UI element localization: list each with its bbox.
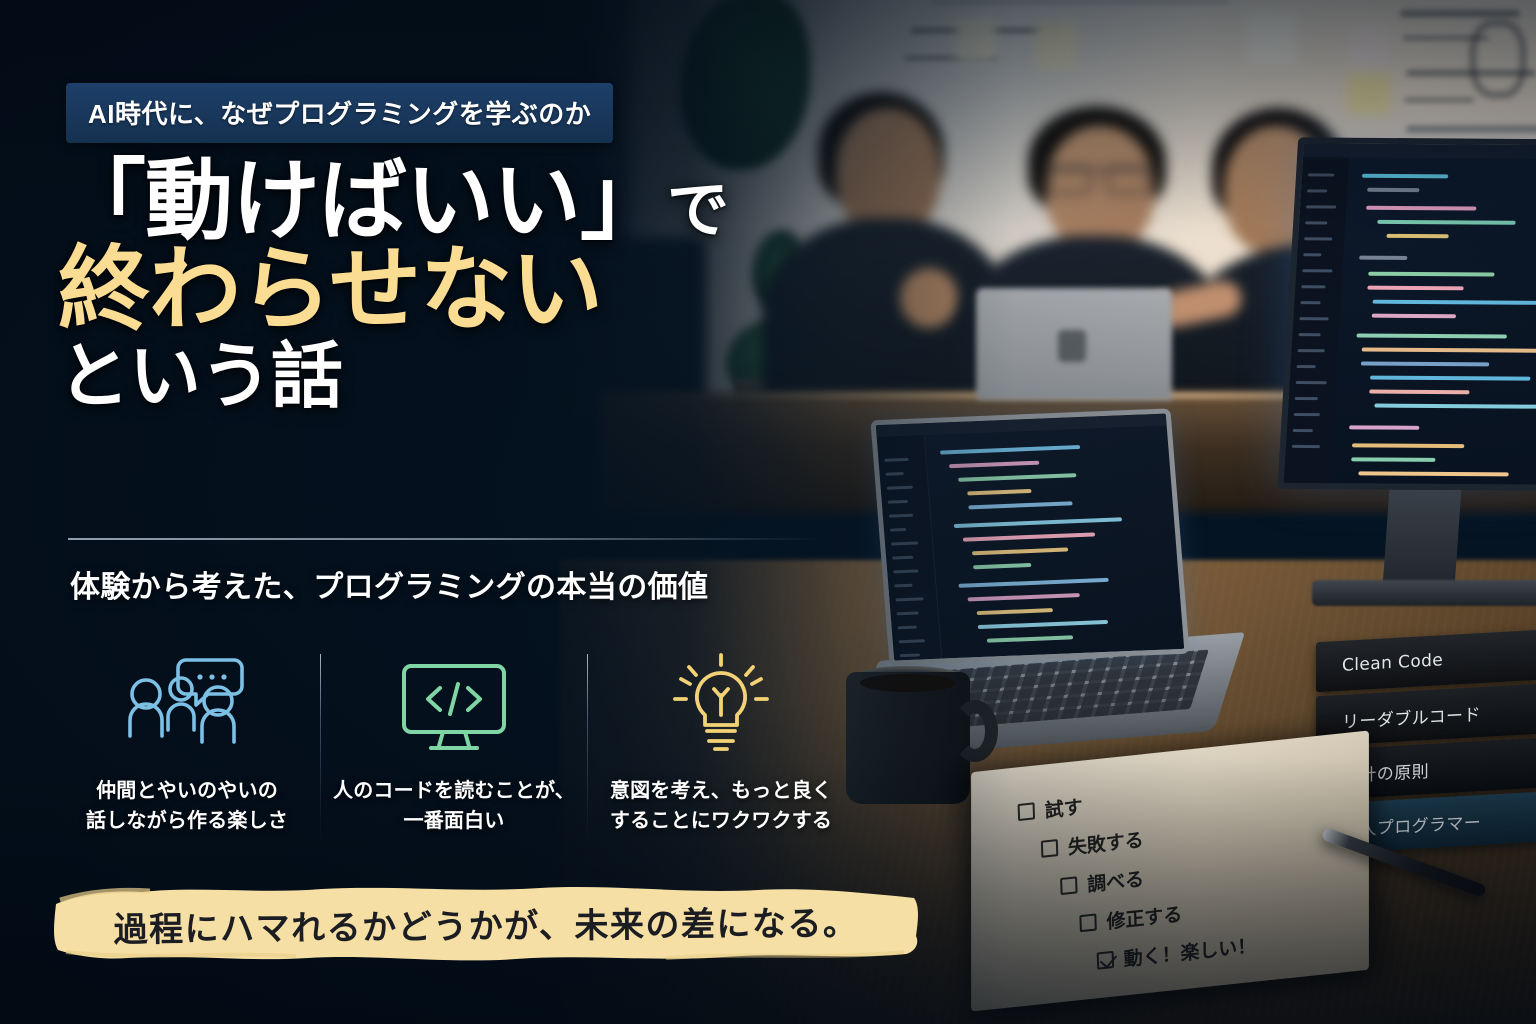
headline-suffix: で [667,176,728,245]
feature-label: 人のコードを読むことが、 一番面白い [333,776,575,837]
headline-line-2: 終わらせない [58,243,878,339]
lightbulb-icon [667,648,775,768]
people-chat-icon [124,648,250,768]
headline-line-1: 「動けばいい」で [58,155,878,247]
hero-banner: Clean Code リーダブルコード 設計の原則 達人プログラマー 試す 失敗… [0,0,1536,1024]
headline-line-3: という話 [58,340,878,415]
feature-label-line2: 一番面白い [333,806,575,836]
feature-label-line2: することにワクワクする [610,806,832,836]
headline: 「動けばいい」で 終わらせない という話 [58,155,878,415]
subtitle: 体験から考えた、プログラミングの本当の価値 [70,562,708,606]
feature-intent: 意図を考え、もっと良く することにワクワクする [588,648,854,842]
headline-divider [68,538,818,540]
feature-label: 仲間とやいのやいの 話しながら作る楽しさ [86,776,288,837]
code-monitor-icon [395,648,513,768]
feature-label-line1: 仲間とやいのやいの [86,776,288,806]
tagline-ribbon: 過程にハマれるかどうかが、未来の差になる。 [46,878,926,968]
feature-collaboration: 仲間とやいのやいの 話しながら作る楽しさ [54,648,320,842]
eyebrow-badge: AI時代に、なぜプログラミングを学ぶのか [66,83,613,143]
feature-label-line1: 人のコードを読むことが、 [333,776,575,806]
feature-label-line2: 話しながら作る楽しさ [86,806,288,836]
feature-list: 仲間とやいのやいの 話しながら作る楽しさ [54,648,874,842]
headline-quote-text: 「動けばいい」 [58,151,667,250]
tagline-text: 過程にハマれるかどうかが、未来の差になる。 [46,874,927,972]
feature-label: 意図を考え、もっと良く することにワクワクする [610,776,832,837]
feature-code-reading: 人のコードを読むことが、 一番面白い [321,648,587,842]
feature-label-line1: 意図を考え、もっと良く [610,776,832,806]
hero-content: AI時代に、なぜプログラミングを学ぶのか 「動けばいい」で 終わらせない という… [0,0,900,1024]
